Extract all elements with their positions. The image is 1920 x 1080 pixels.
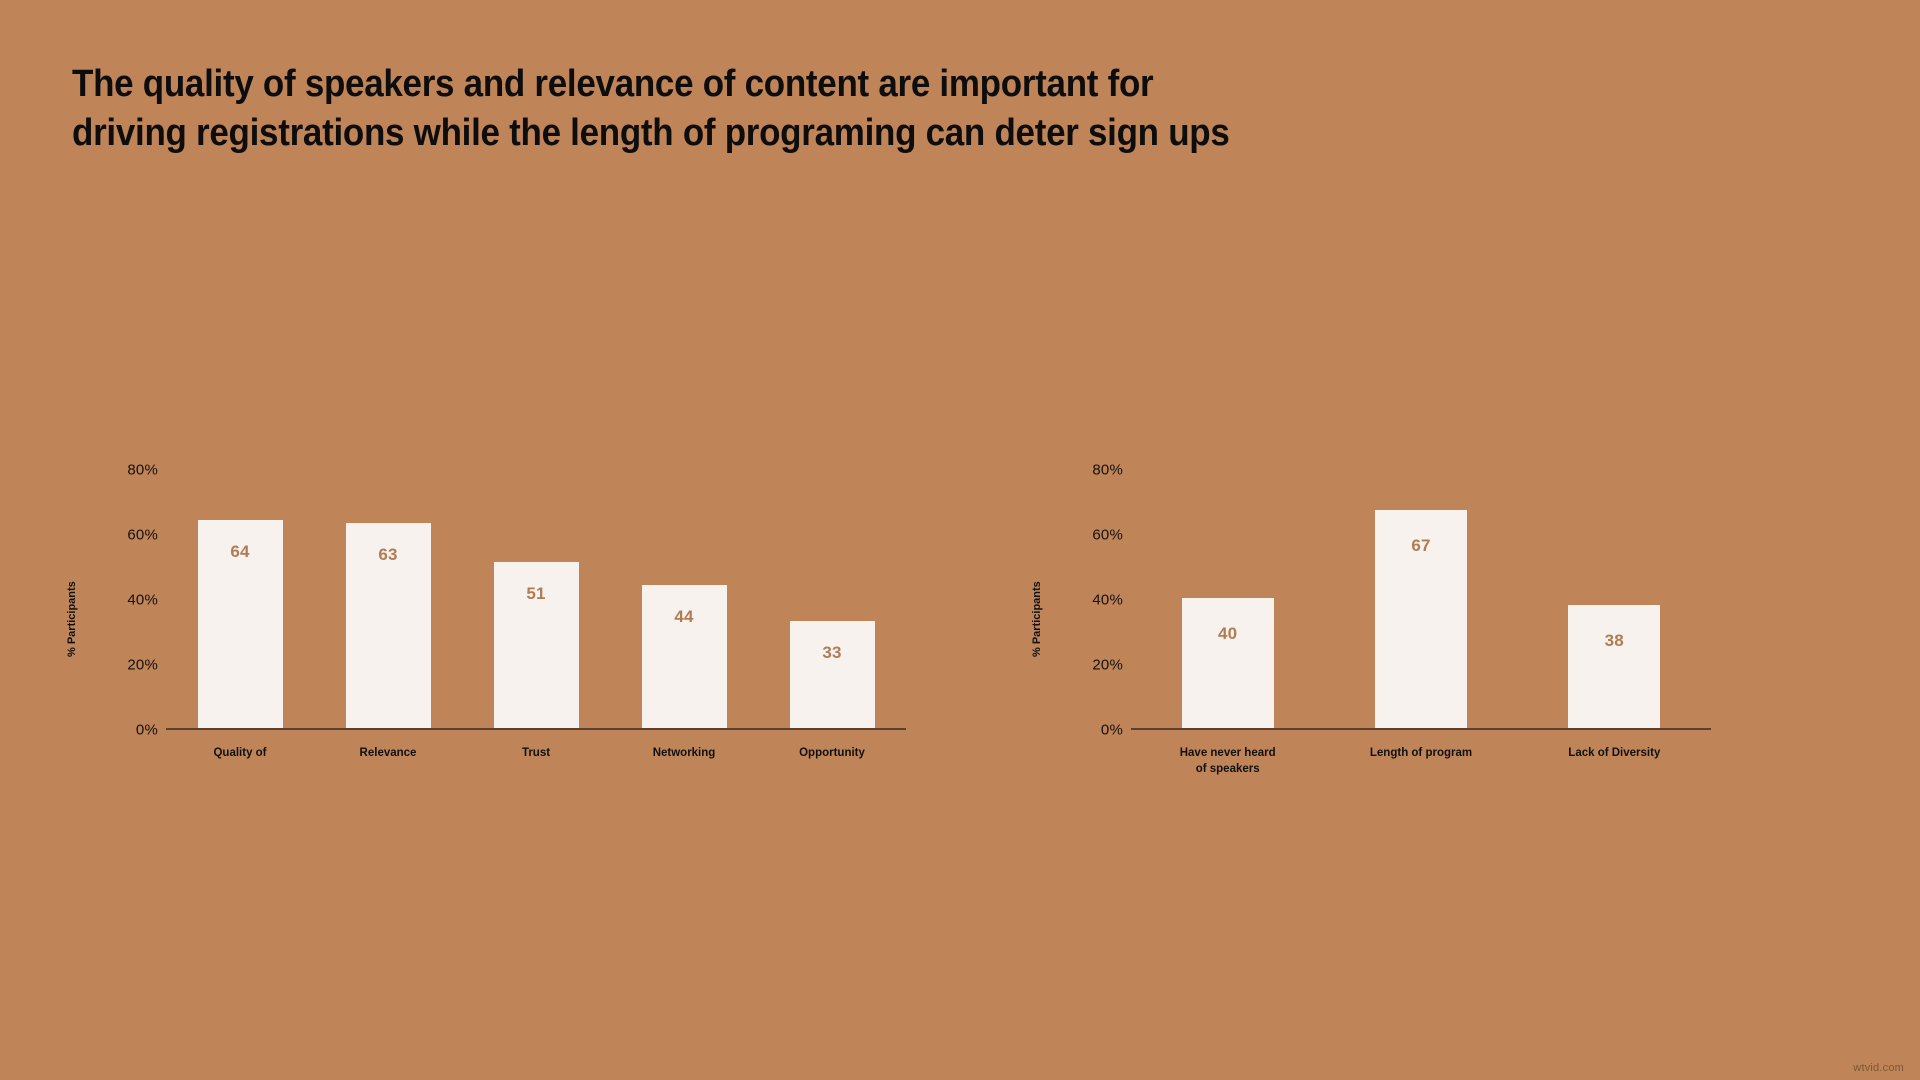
slide-canvas: The quality of speakers and relevance of… xyxy=(0,0,1920,1080)
page-title: The quality of speakers and relevance of… xyxy=(72,60,1618,159)
y-tick-right-0: 0% xyxy=(1059,722,1123,739)
y-tick-right-3: 60% xyxy=(1059,527,1123,544)
x-axis-category-label: Opportunity xyxy=(684,746,980,762)
y-axis-ticks-right: 0% 20% 40% 60% 80% xyxy=(1059,470,1123,730)
bar-value-label: 44 xyxy=(642,607,727,627)
bar-value-label: 51 xyxy=(494,584,579,604)
bar-value-label: 33 xyxy=(790,643,875,663)
chart-deterrents: % Participants 0% 20% 40% 60% 80% 40 Hav… xyxy=(1035,470,1885,870)
bar[interactable]: 40 xyxy=(1182,598,1274,728)
bar-slot: 40 Have never heard of speakers xyxy=(1131,470,1324,728)
y-tick-right-1: 20% xyxy=(1059,657,1123,674)
bar-value-label: 63 xyxy=(346,545,431,565)
y-tick-left-4: 80% xyxy=(94,462,158,479)
bar-slot: 51 Trust xyxy=(462,470,610,728)
y-tick-left-1: 20% xyxy=(94,657,158,674)
chart-drivers: % Participants 0% 20% 40% 60% 80% 64 Qua… xyxy=(70,470,1000,870)
bar-slot: 33 Opportunity xyxy=(758,470,906,728)
bar-slot: 63 Relevance xyxy=(314,470,462,728)
bar[interactable]: 64 xyxy=(198,520,283,728)
bar-value-label: 38 xyxy=(1568,631,1660,651)
bar-slot: 64 Quality of xyxy=(166,470,314,728)
y-axis-title-left: % Participants xyxy=(66,581,78,657)
bar[interactable]: 63 xyxy=(346,523,431,728)
bar-slot: 44 Networking xyxy=(610,470,758,728)
watermark: wtvid.com xyxy=(1853,1062,1904,1074)
plot-area-left: 64 Quality of 63 Relevance 51 Trust 44 xyxy=(166,470,906,730)
bar-slot: 67 Length of program xyxy=(1324,470,1517,728)
bar[interactable]: 44 xyxy=(642,585,727,728)
bar[interactable]: 67 xyxy=(1375,510,1467,728)
bar-value-label: 64 xyxy=(198,542,283,562)
bar-value-label: 67 xyxy=(1375,536,1467,556)
y-tick-right-4: 80% xyxy=(1059,462,1123,479)
plot-area-right: 40 Have never heard of speakers 67 Lengt… xyxy=(1131,470,1711,730)
y-tick-left-0: 0% xyxy=(94,722,158,739)
y-axis-title-right: % Participants xyxy=(1031,581,1043,657)
bar[interactable]: 33 xyxy=(790,621,875,728)
y-tick-right-2: 40% xyxy=(1059,592,1123,609)
bar-slot: 38 Lack of Diversity xyxy=(1518,470,1711,728)
x-axis-category-label: Lack of Diversity xyxy=(1421,746,1808,762)
bar[interactable]: 51 xyxy=(494,562,579,728)
y-tick-left-3: 60% xyxy=(94,527,158,544)
y-axis-ticks-left: 0% 20% 40% 60% 80% xyxy=(94,470,158,730)
bar-value-label: 40 xyxy=(1182,624,1274,644)
y-tick-left-2: 40% xyxy=(94,592,158,609)
bar[interactable]: 38 xyxy=(1568,605,1660,729)
